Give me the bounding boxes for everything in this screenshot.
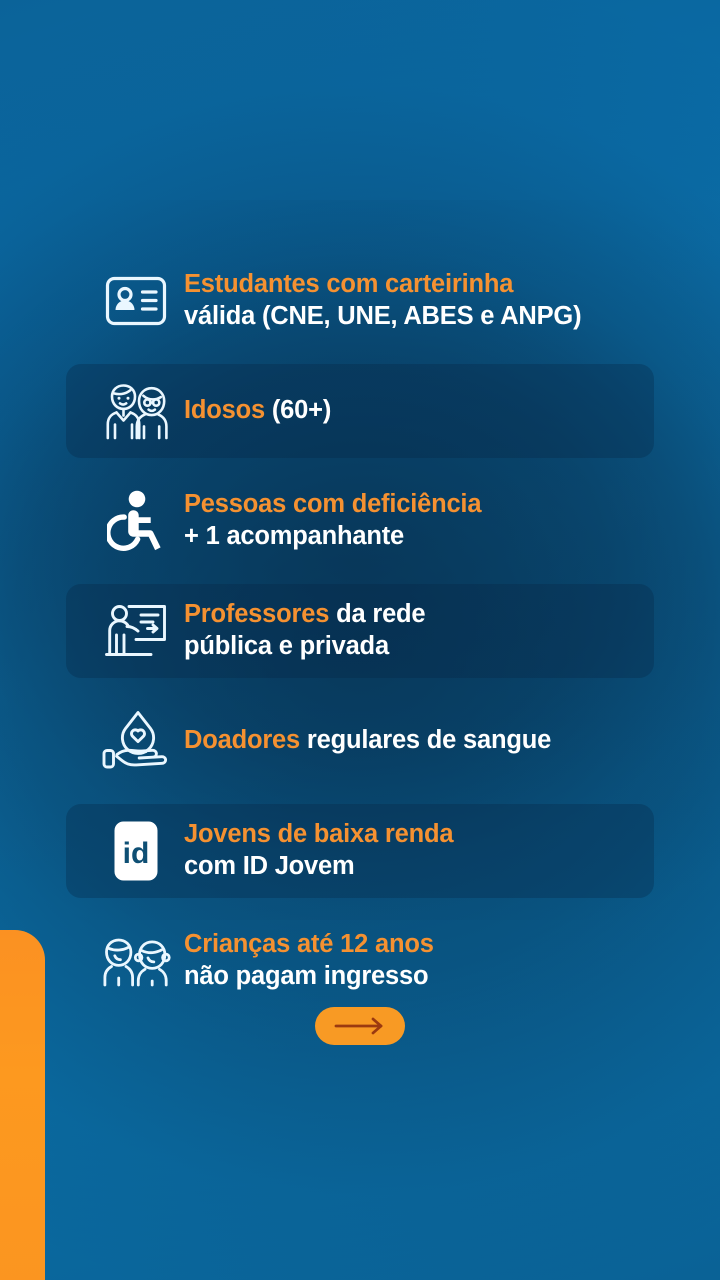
benefit-text-plain: regulares de sangue	[307, 726, 551, 754]
benefit-text-highlight: Doadores	[184, 726, 307, 754]
benefit-row-children: Crianças até 12 anos não pagam ingresso	[88, 918, 632, 1004]
poster-canvas: Estudantes com carteirinha válida (CNE, …	[0, 0, 720, 1280]
benefit-text-highlight: Jovens de baixa renda	[184, 820, 453, 848]
benefit-text-plain: não pagam ingresso	[184, 962, 428, 990]
benefit-text-highlight: Professores	[184, 600, 336, 628]
benefit-text-plain: da rede	[336, 600, 425, 628]
benefit-row-disability: Pessoas com deficiência + 1 acompanhante	[88, 478, 632, 564]
benefit-text-disability: Pessoas com deficiência + 1 acompanhante	[184, 489, 632, 552]
benefit-row-students: Estudantes com carteirinha válida (CNE, …	[88, 258, 632, 344]
id-jovem-badge-icon: id	[88, 820, 184, 882]
id-card-icon	[88, 276, 184, 326]
benefit-text-plain: + 1 acompanhante	[184, 522, 404, 550]
benefit-row-elderly: Idosos (60+)	[88, 368, 632, 454]
benefit-text-highlight: Crianças até 12 anos	[184, 930, 434, 958]
benefit-row-id-jovem: id Jovens de baixa renda com ID Jovem	[88, 808, 632, 894]
benefit-row-blood-donors: Doadores regulares de sangue	[88, 698, 632, 784]
benefit-text-blood-donors: Doadores regulares de sangue	[184, 725, 632, 757]
benefit-text-students: Estudantes com carteirinha válida (CNE, …	[184, 269, 632, 332]
benefit-row-teachers: Professores da rede pública e privada	[88, 588, 632, 674]
elderly-couple-icon	[88, 380, 184, 442]
wheelchair-icon	[88, 490, 184, 552]
benefit-text-teachers: Professores da rede pública e privada	[184, 599, 632, 662]
benefit-text-highlight: Idosos	[184, 396, 272, 424]
benefit-text-elderly: Idosos (60+)	[184, 395, 632, 427]
next-arrow-button[interactable]	[315, 1007, 405, 1045]
cta-container	[0, 1007, 720, 1045]
benefits-list: Estudantes com carteirinha válida (CNE, …	[0, 258, 720, 1004]
svg-text:id: id	[123, 837, 150, 870]
blood-donation-hand-icon	[88, 710, 184, 772]
children-icon	[88, 935, 184, 987]
benefit-text-highlight: Pessoas com deficiência	[184, 490, 481, 518]
benefit-text-highlight: Estudantes com carteirinha	[184, 270, 513, 298]
benefit-text-children: Crianças até 12 anos não pagam ingresso	[184, 929, 632, 992]
benefit-text-plain: com ID Jovem	[184, 852, 355, 880]
benefit-text-plain: válida (CNE, UNE, ABES e ANPG)	[184, 302, 581, 330]
arrow-right-icon	[333, 1016, 387, 1036]
benefit-text-plain: (60+)	[272, 396, 331, 424]
benefit-text-plain: pública e privada	[184, 632, 389, 660]
benefit-text-id-jovem: Jovens de baixa renda com ID Jovem	[184, 819, 632, 882]
teacher-board-icon	[88, 601, 184, 661]
